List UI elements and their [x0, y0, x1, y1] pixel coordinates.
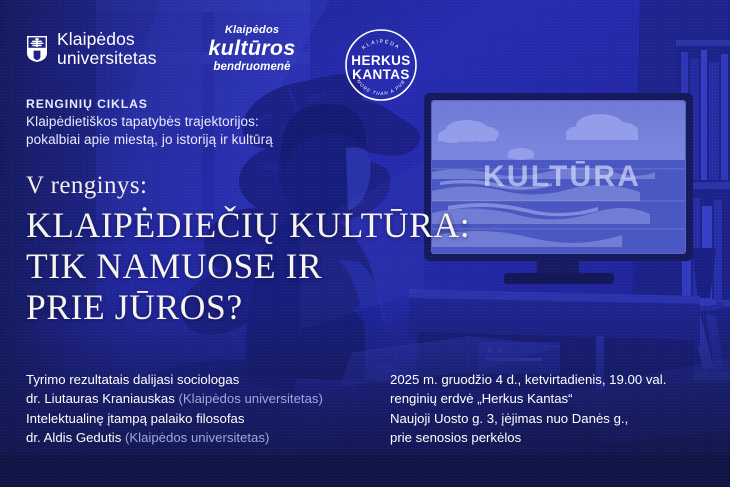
klaipeda-university-logo: Klaipėdos universitetas	[26, 30, 157, 68]
title-line-2: TIK NAMUOSE IR	[26, 246, 426, 287]
hk-arc-top: KLAIPĖDA	[361, 38, 401, 51]
hk-line2: KANTAS	[352, 67, 410, 82]
kkb-line3: bendruomenė	[198, 60, 306, 74]
speaker-2-role: Intelektualinę įtampą palaiko filosofas	[26, 409, 323, 428]
cycle-label: RENGINIŲ CIKLAS	[26, 96, 273, 113]
speaker-1-name: dr. Liutauras Kraniauskas	[26, 391, 175, 406]
details-datetime: 2025 m. gruodžio 4 d., ketvirtadienis, 1…	[390, 370, 666, 389]
speaker-2-affiliation: (Klaipėdos universitetas)	[125, 430, 269, 445]
culture-community-logo: Klaipėdos kultūros bendruomenė	[198, 24, 306, 74]
herkus-kantas-logo: KLAIPĖDA HERKUS KANTAS MORE THAN A PUB	[339, 23, 423, 107]
speaker-1-role: Tyrimo rezultatais dalijasi sociologas	[26, 370, 323, 389]
speakers-block: Tyrimo rezultatais dalijasi sociologas d…	[26, 370, 323, 448]
tv-screen-text: KULTŪRA	[483, 160, 641, 194]
logo-row: Klaipėdos universitetas Klaipėdos kultūr…	[26, 24, 406, 86]
event-details-block: 2025 m. gruodžio 4 d., ketvirtadienis, 1…	[390, 370, 666, 448]
title-line-1: KLAIPĖDIEČIŲ KULTŪRA:	[26, 205, 426, 246]
page-title: KLAIPĖDIEČIŲ KULTŪRA: TIK NAMUOSE IR PRI…	[26, 205, 426, 328]
ku-logo-line2: universitetas	[57, 49, 157, 68]
title-line-3: PRIE JŪROS?	[26, 287, 426, 328]
cycle-line-1: Klaipėdietiškos tapatybės trajektorijos:	[26, 113, 273, 131]
speaker-2-name: dr. Aldis Gedutis	[26, 430, 121, 445]
event-cycle-block: RENGINIŲ CIKLAS Klaipėdietiškos tapatybė…	[26, 96, 273, 149]
kkb-line2: kultūros	[198, 37, 306, 60]
hk-line1: HERKUS	[351, 53, 410, 68]
speaker-1-line: dr. Liutauras Kraniauskas (Klaipėdos uni…	[26, 389, 323, 408]
event-number-label: V renginys:	[26, 172, 147, 200]
cycle-line-2: pokalbiai apie miestą, jo istoriją ir ku…	[26, 131, 273, 149]
ku-logo-text: Klaipėdos universitetas	[57, 30, 157, 68]
details-address-extra: prie senosios perkėlos	[390, 428, 666, 447]
svg-text:KLAIPĖDA: KLAIPĖDA	[361, 38, 401, 51]
ku-logo-line1: Klaipėdos	[57, 30, 157, 49]
details-address: Naujoji Uosto g. 3, įėjimas nuo Danės g.…	[390, 409, 666, 428]
poster-canvas: Klaipėdos universitetas Klaipėdos kultūr…	[0, 0, 730, 487]
speaker-2-line: dr. Aldis Gedutis (Klaipėdos universitet…	[26, 428, 323, 447]
details-venue: renginių erdvė „Herkus Kantas“	[390, 389, 666, 408]
ku-shield-icon	[26, 35, 48, 63]
speaker-1-affiliation: (Klaipėdos universitetas)	[178, 391, 322, 406]
